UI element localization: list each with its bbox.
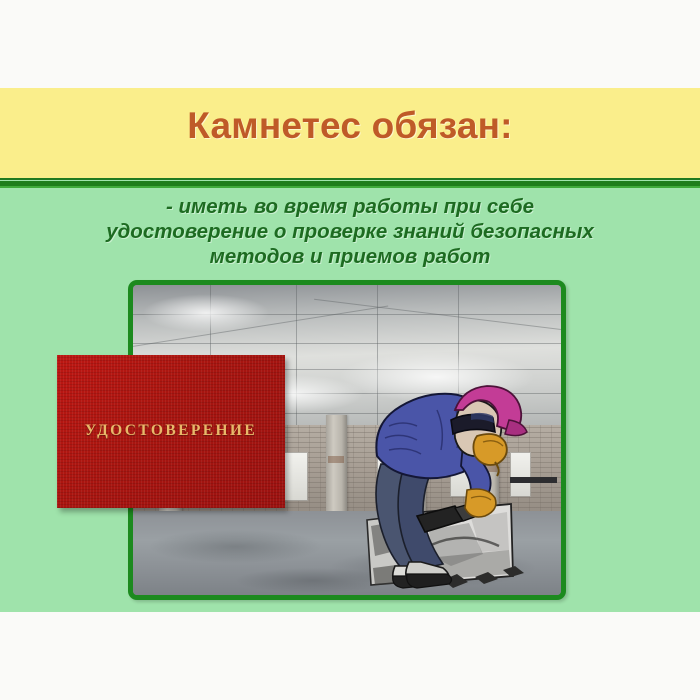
divider-rule-bottom	[0, 186, 700, 188]
subtitle-line-3: методов и приемов работ	[20, 244, 680, 269]
header-band: Камнетес обязан:	[0, 88, 700, 178]
stonemason-worker-illustration	[359, 380, 559, 595]
header-divider	[0, 178, 700, 188]
certificate-label: УДОСТОВЕРЕНИЕ	[57, 422, 285, 440]
certificate-card: УДОСТОВЕРЕНИЕ	[57, 355, 285, 508]
subtitle-line-2: удостоверение о проверке знаний безопасн…	[20, 219, 680, 244]
worker-glove-lower	[465, 489, 496, 517]
slide-subtitle: - иметь во время работы при себе удостов…	[20, 194, 680, 269]
slide-title: Камнетес обязан:	[0, 105, 700, 147]
slide: Камнетес обязан: - иметь во время работы…	[0, 88, 700, 612]
divider-rule-top	[0, 178, 700, 180]
worker-glove-upper	[473, 434, 506, 465]
subtitle-line-1: - иметь во время работы при себе	[20, 194, 680, 219]
column	[326, 415, 347, 523]
